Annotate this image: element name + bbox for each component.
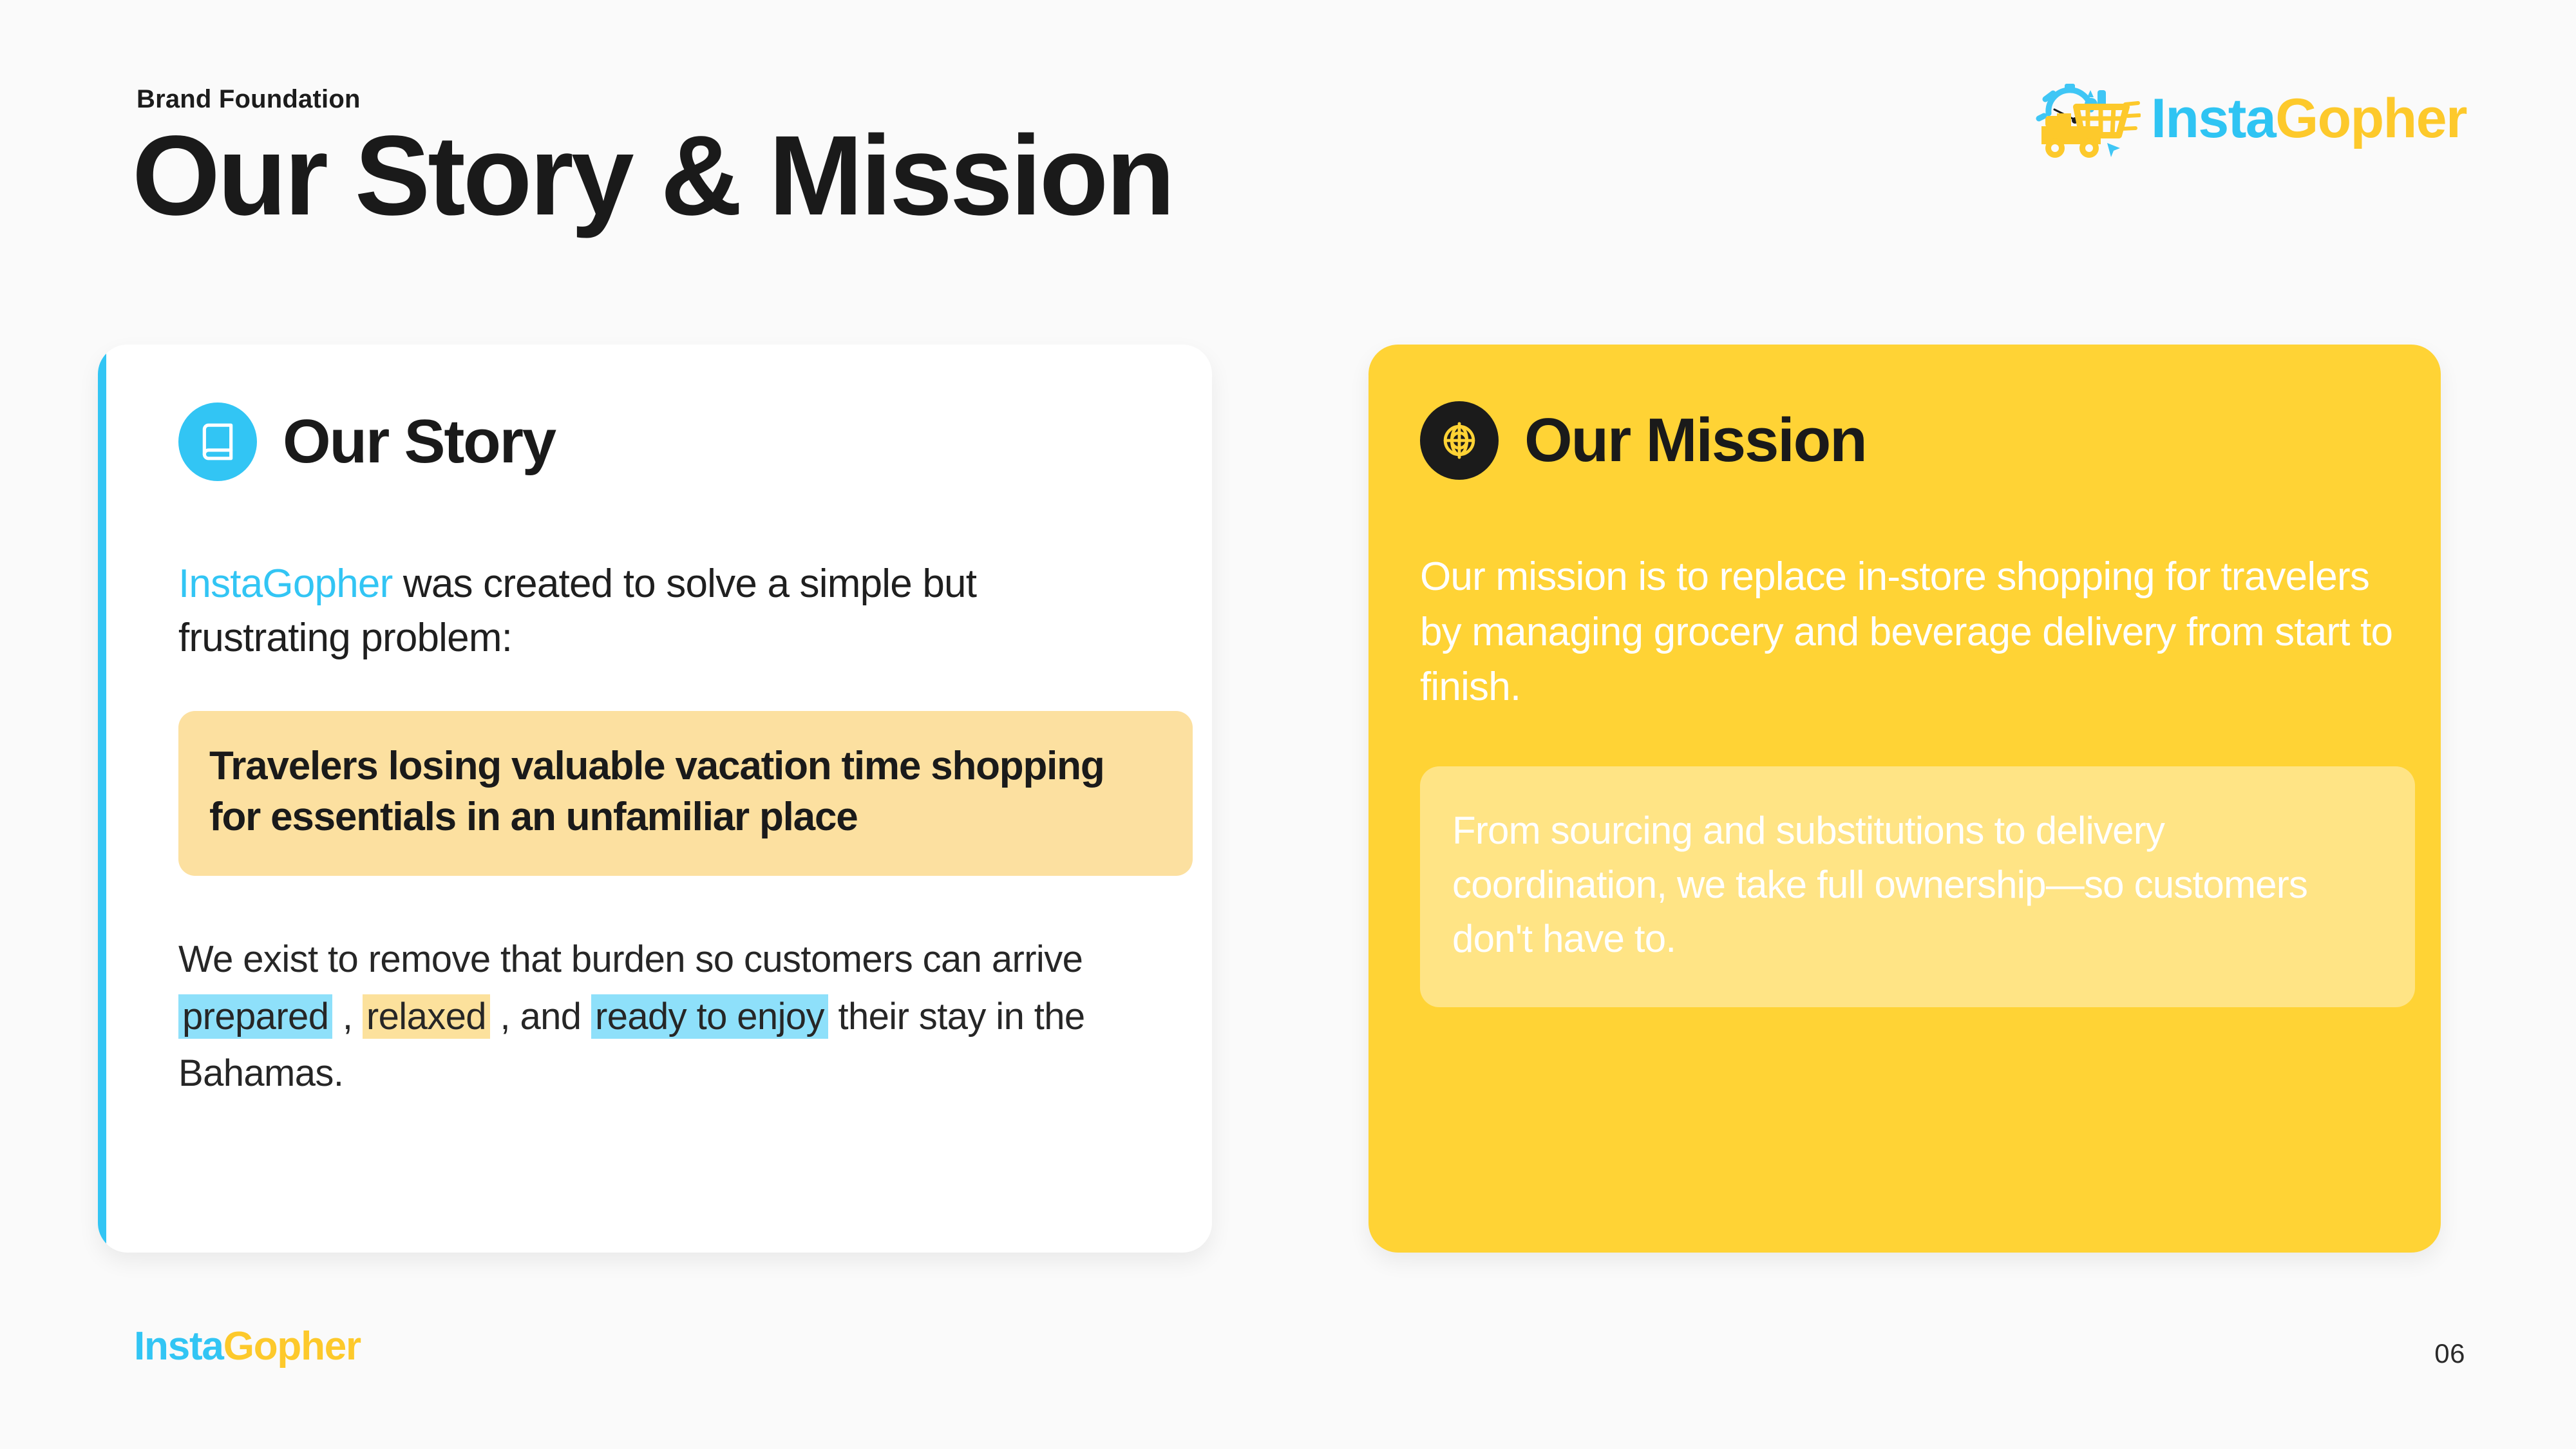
story-card-header: Our Story — [178, 402, 1173, 481]
story-brand-mention: InstaGopher — [178, 562, 392, 606]
book-icon — [178, 402, 257, 481]
footer-logo-insta: Insta — [134, 1324, 223, 1368]
story-accent-bar — [98, 345, 106, 1253]
target-crosshair-icon — [1420, 401, 1499, 480]
page-title: Our Story & Mission — [132, 115, 1173, 237]
page-number: 06 — [2434, 1338, 2465, 1369]
story-outro-part1: We exist to remove that burden so custom… — [178, 938, 1083, 980]
mission-detail-callout: From sourcing and substitutions to deliv… — [1420, 766, 2415, 1007]
story-lead-paragraph: InstaGopher was created to solve a simpl… — [178, 557, 1144, 666]
story-card-title: Our Story — [283, 411, 555, 473]
story-problem-callout: Travelers losing valuable vacation time … — [178, 711, 1193, 876]
mission-detail-text: From sourcing and substitutions to deliv… — [1452, 804, 2383, 966]
our-story-card: Our Story InstaGopher was created to sol… — [98, 345, 1212, 1253]
brand-logo: InstaGopher — [2031, 76, 2467, 161]
brand-wordmark-insta: Insta — [2151, 88, 2275, 149]
story-highlight-ready-to-enjoy: ready to enjoy — [591, 994, 828, 1039]
story-highlight-relaxed: relaxed — [363, 994, 490, 1039]
story-highlight-prepared: prepared — [178, 994, 332, 1039]
mission-card-header: Our Mission — [1420, 401, 2405, 480]
mission-lead-paragraph: Our mission is to replace in-store shopp… — [1420, 549, 2399, 715]
slide-root: Brand Foundation Our Story & Mission — [0, 0, 2576, 1449]
brand-wordmark-gopher: Gopher — [2275, 88, 2467, 149]
story-outro-paragraph: We exist to remove that burden so custom… — [178, 931, 1119, 1101]
story-outro-sep2: , and — [490, 996, 591, 1037]
cards-row: Our Story InstaGopher was created to sol… — [0, 345, 2576, 1265]
footer-brand-logo: InstaGopher — [134, 1327, 361, 1367]
footer-logo-gopher: Gopher — [223, 1324, 361, 1368]
mission-card-title: Our Mission — [1524, 410, 1866, 471]
eyebrow-label: Brand Foundation — [137, 85, 361, 114]
story-problem-text: Travelers losing valuable vacation time … — [209, 741, 1162, 843]
brand-wordmark: InstaGopher — [2151, 91, 2467, 146]
story-outro-sep1: , — [332, 996, 363, 1037]
delivery-truck-cart-clock-icon — [2031, 76, 2141, 161]
our-mission-card: Our Mission Our mission is to replace in… — [1368, 345, 2441, 1253]
